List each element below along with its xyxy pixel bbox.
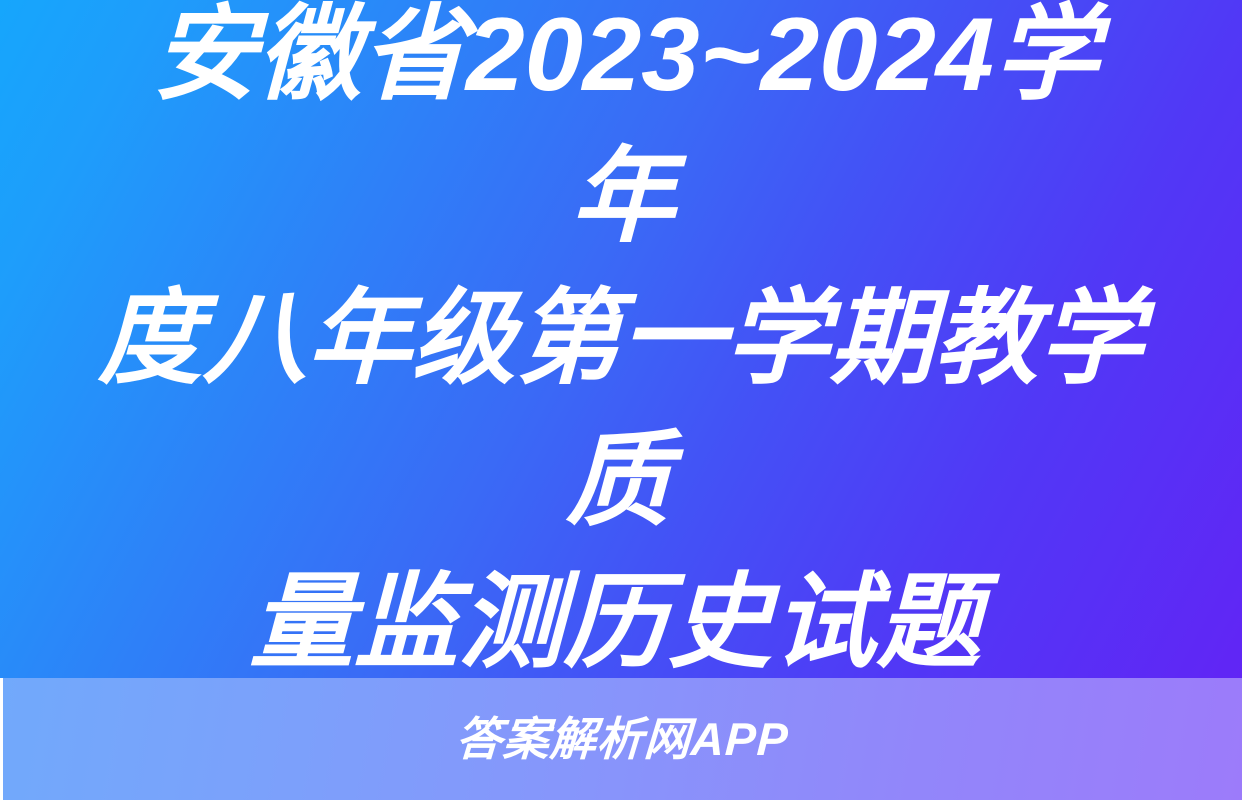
page-title: 安徽省2023~2024学年 度八年级第一学期教学质 量监测历史试题 [90, 0, 1152, 678]
watermark-footer-bar: 答案解析网APP [0, 678, 1242, 800]
hero-banner: 安徽省2023~2024学年 度八年级第一学期教学质 量监测历史试题 [0, 0, 1242, 678]
exam-cover-poster: 安徽省2023~2024学年 度八年级第一学期教学质 量监测历史试题 答案解析网… [0, 0, 1242, 800]
app-watermark-label: 答案解析网APP [455, 714, 790, 764]
